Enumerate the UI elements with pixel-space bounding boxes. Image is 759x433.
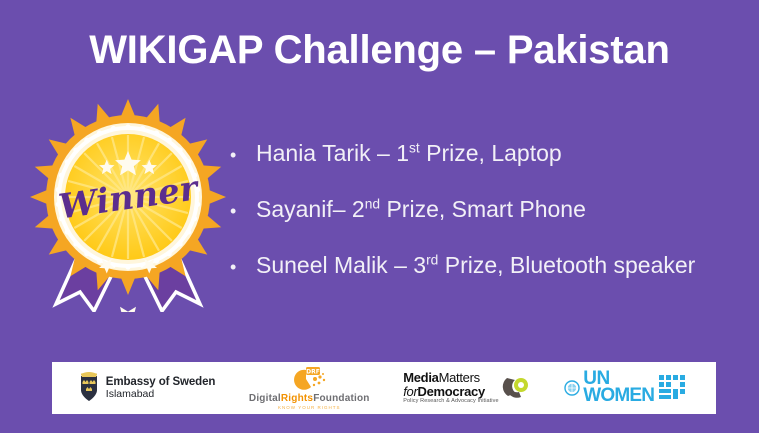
bullet-icon: •	[230, 202, 256, 220]
mmfd-line1: MediaMatters	[403, 371, 498, 385]
drf-mark-icon: DRF	[286, 366, 332, 392]
winner-ordinal: st	[409, 140, 420, 155]
winner-name: Sayanif	[256, 196, 333, 222]
winner-entry: Hania Tarik – 1st Prize, Laptop	[256, 140, 562, 167]
winner-prize: Prize, Bluetooth speaker	[438, 252, 695, 278]
logo-un-women: UN WOMEN	[564, 371, 691, 404]
bullet-icon: •	[230, 146, 256, 164]
mmfd-line2: forDemocracy	[403, 385, 498, 399]
mmfd-text-block: MediaMatters forDemocracy Policy Researc…	[403, 371, 498, 405]
mmfd-mark-icon	[501, 375, 531, 401]
logo-embassy-of-sweden: Embassy of Sweden Islamabad	[77, 372, 216, 404]
sweden-city: Islamabad	[106, 389, 216, 400]
list-item: • Sayanif– 2nd Prize, Smart Phone	[230, 196, 730, 252]
winner-dash: –	[371, 140, 397, 166]
drf-tagline: KNOW YOUR RIGHTS	[278, 405, 340, 410]
winner-ordinal: rd	[426, 252, 438, 267]
sponsor-logo-bar: Embassy of Sweden Islamabad DRF DigitalR…	[52, 362, 716, 414]
winner-badge: Winner	[28, 92, 228, 312]
mmfd-for: for	[403, 384, 417, 399]
un-women-line2: WOMEN	[583, 388, 654, 405]
winner-name: Hania Tarik	[256, 140, 371, 166]
list-item: • Suneel Malik – 3rd Prize, Bluetooth sp…	[230, 252, 730, 308]
winner-entry: Sayanif– 2nd Prize, Smart Phone	[256, 196, 586, 223]
logo-digital-rights-foundation: DRF DigitalRightsFoundation KNOW YOUR RI…	[249, 366, 370, 410]
winner-entry: Suneel Malik – 3rd Prize, Bluetooth spea…	[256, 252, 695, 279]
logo-media-matters-for-democracy: MediaMatters forDemocracy Policy Researc…	[403, 371, 530, 405]
un-women-symbol-icon	[657, 373, 691, 403]
drf-mark-text: DRF	[306, 369, 320, 376]
winner-prize: Prize, Smart Phone	[380, 196, 586, 222]
slide-canvas: WIKIGAP Challenge – Pakistan	[0, 0, 759, 433]
winner-prize: Prize, Laptop	[420, 140, 562, 166]
drf-part1: Digital	[249, 393, 281, 404]
winner-rank: 1	[396, 140, 409, 166]
winner-ordinal: nd	[365, 196, 380, 211]
drf-part2: Rights	[281, 393, 313, 404]
un-women-wordmark: UN WOMEN	[583, 371, 654, 404]
winner-rank: 3	[413, 252, 426, 278]
drf-wordmark: DigitalRightsFoundation	[249, 393, 370, 404]
list-item: • Hania Tarik – 1st Prize, Laptop	[230, 140, 730, 196]
mmfd-democracy: Democracy	[418, 384, 485, 399]
un-emblem-icon	[564, 380, 580, 396]
sweden-crest-icon	[77, 372, 101, 404]
sweden-name: Embassy of Sweden	[106, 376, 216, 388]
winners-list: • Hania Tarik – 1st Prize, Laptop • Saya…	[230, 140, 730, 308]
sweden-text-block: Embassy of Sweden Islamabad	[106, 376, 216, 400]
winner-badge-icon: Winner	[28, 92, 228, 312]
badge-rosette: Winner	[30, 99, 226, 312]
drf-part3: Foundation	[313, 393, 369, 404]
page-title: WIKIGAP Challenge – Pakistan	[0, 28, 759, 73]
mmfd-tagline: Policy Research & Advocacy Initiative	[403, 399, 498, 405]
bullet-icon: •	[230, 258, 256, 276]
winner-rank: 2	[352, 196, 365, 222]
winner-dash: –	[388, 252, 414, 278]
winner-name: Suneel Malik	[256, 252, 388, 278]
winner-dash: –	[333, 196, 352, 222]
